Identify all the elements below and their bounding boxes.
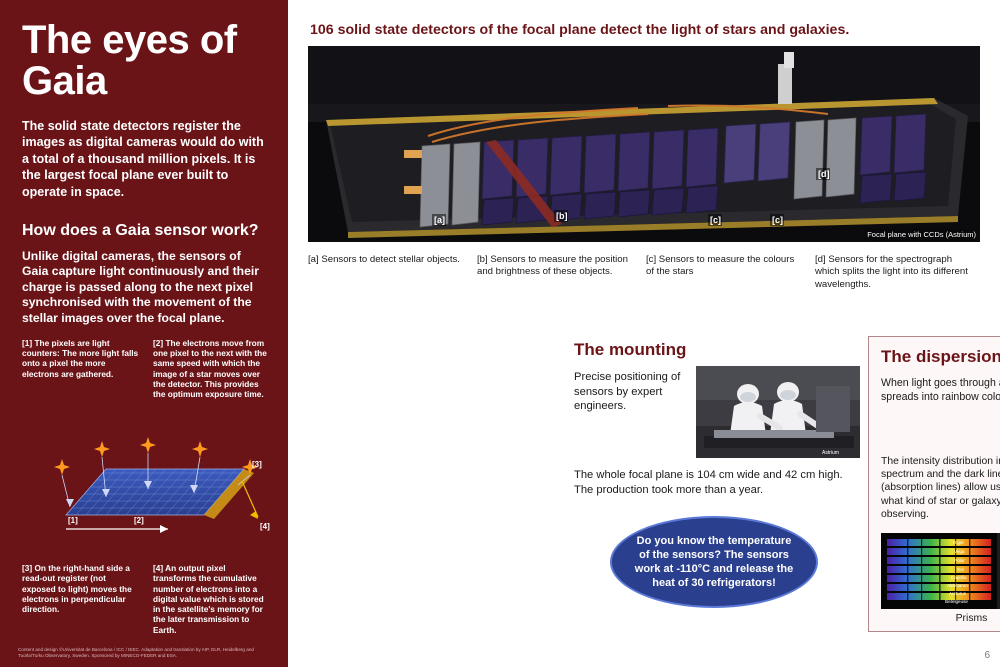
prisms-figure: Rigel Vega Polar Sol Capella Aldebaran A… <box>881 533 1000 624</box>
svg-text:Betelgeuse: Betelgeuse <box>945 599 968 604</box>
svg-text:[b]: [b] <box>556 211 568 221</box>
focal-plane-photo: [a] [b] [c] [c] [d] Focal plane with CCD… <box>308 46 980 242</box>
ccd-diagram-svg: [1] [2] [3] [4] <box>28 423 278 543</box>
svg-text:[d]: [d] <box>818 169 830 179</box>
svg-text:Aldebaran: Aldebaran <box>947 583 968 588</box>
prisms-caption: Prisms <box>881 613 1000 624</box>
svg-text:Rigel: Rigel <box>953 540 963 545</box>
left-panel: The eyes of Gaia The solid state detecto… <box>0 0 288 667</box>
svg-text:[3]: [3] <box>252 460 262 469</box>
mounting-text-2: The whole focal plane is 104 cm wide and… <box>574 468 860 497</box>
mounting-photo: Astrium <box>696 366 860 458</box>
svg-text:Capella: Capella <box>951 575 967 580</box>
dispersion-title: The dispersion of light <box>881 347 1000 367</box>
mounting-section: The mounting Precise positioning of sens… <box>574 340 860 640</box>
sensor-body-text: Unlike digital cameras, the sensors of G… <box>22 249 270 326</box>
note-3: [3] On the right-hand side a read-out re… <box>22 563 139 634</box>
section-heading-sensor: How does a Gaia sensor work? <box>22 222 270 240</box>
focal-plane-headline: 106 solid state detectors of the focal p… <box>310 22 980 38</box>
legend-item-b: [b] Sensors to measure the position and … <box>477 254 646 291</box>
legend-item-c: [c] Sensors to measure the colours of th… <box>646 254 815 291</box>
mounting-text-1: Precise positioning of sensors by expert… <box>574 370 684 414</box>
svg-text:Polar: Polar <box>954 558 965 563</box>
page-number: 6 <box>984 650 990 661</box>
right-content: 106 solid state detectors of the focal p… <box>288 0 1000 667</box>
mounting-photo-svg: Astrium <box>696 366 860 458</box>
note-1: [1] The pixels are light counters: The m… <box>22 338 139 399</box>
focal-plane-photo-svg: [a] [b] [c] [c] [d] <box>308 46 980 242</box>
intro-paragraph: The solid state detectors register the i… <box>22 118 270 200</box>
svg-text:[c]: [c] <box>772 215 783 225</box>
svg-text:Vega: Vega <box>954 549 965 554</box>
note-4: [4] An output pixel transforms the cumul… <box>153 563 270 634</box>
legend-item-d: [d] Sensors for the spectrograph which s… <box>815 254 984 291</box>
svg-text:Arcturus: Arcturus <box>949 591 967 596</box>
svg-text:[2]: [2] <box>134 516 144 525</box>
mounting-title: The mounting <box>574 340 860 360</box>
dispersion-section: The dispersion of light When light goes … <box>868 336 1000 632</box>
prisms-photo-svg: Rigel Vega Polar Sol Capella Aldebaran A… <box>881 533 1000 609</box>
notes-row-bottom: [3] On the right-hand side a read-out re… <box>22 563 270 634</box>
prisms-photo: Rigel Vega Polar Sol Capella Aldebaran A… <box>881 533 1000 609</box>
svg-text:[4]: [4] <box>260 522 270 531</box>
spectra-images: Rigel Vega Polar Sol Capella Aldebaran A… <box>881 533 1000 624</box>
focal-plane-legend: [a] Sensors to detect stellar objects. [… <box>308 254 984 291</box>
notes-row-top: [1] The pixels are light counters: The m… <box>22 338 270 399</box>
svg-text:[a]: [a] <box>434 215 445 225</box>
svg-text:[c]: [c] <box>710 215 721 225</box>
dispersion-text-col1: The intensity distribution in the spectr… <box>881 455 1000 521</box>
dispersion-text-1: When light goes through a prism it sprea… <box>881 377 1000 404</box>
page-title: The eyes of Gaia <box>22 20 270 102</box>
focal-plane-photo-caption: Focal plane with CCDs (Astrium) <box>867 230 976 239</box>
credits-text: Content and design ©Universitat de Barce… <box>18 647 268 659</box>
svg-text:[1]: [1] <box>68 516 78 525</box>
poster-page: The eyes of Gaia The solid state detecto… <box>0 0 1000 667</box>
legend-item-a: [a] Sensors to detect stellar objects. <box>308 254 477 291</box>
svg-text:Sol: Sol <box>957 567 964 572</box>
dispersion-columns: The intensity distribution in the spectr… <box>881 455 1000 521</box>
ccd-diagram: [1] [2] [3] [4] <box>28 423 278 543</box>
temperature-bubble: Do you know the temperature of the senso… <box>610 516 818 608</box>
mounting-photo-credit: Astrium <box>822 450 839 456</box>
note-2: [2] The electrons move from one pixel to… <box>153 338 270 399</box>
